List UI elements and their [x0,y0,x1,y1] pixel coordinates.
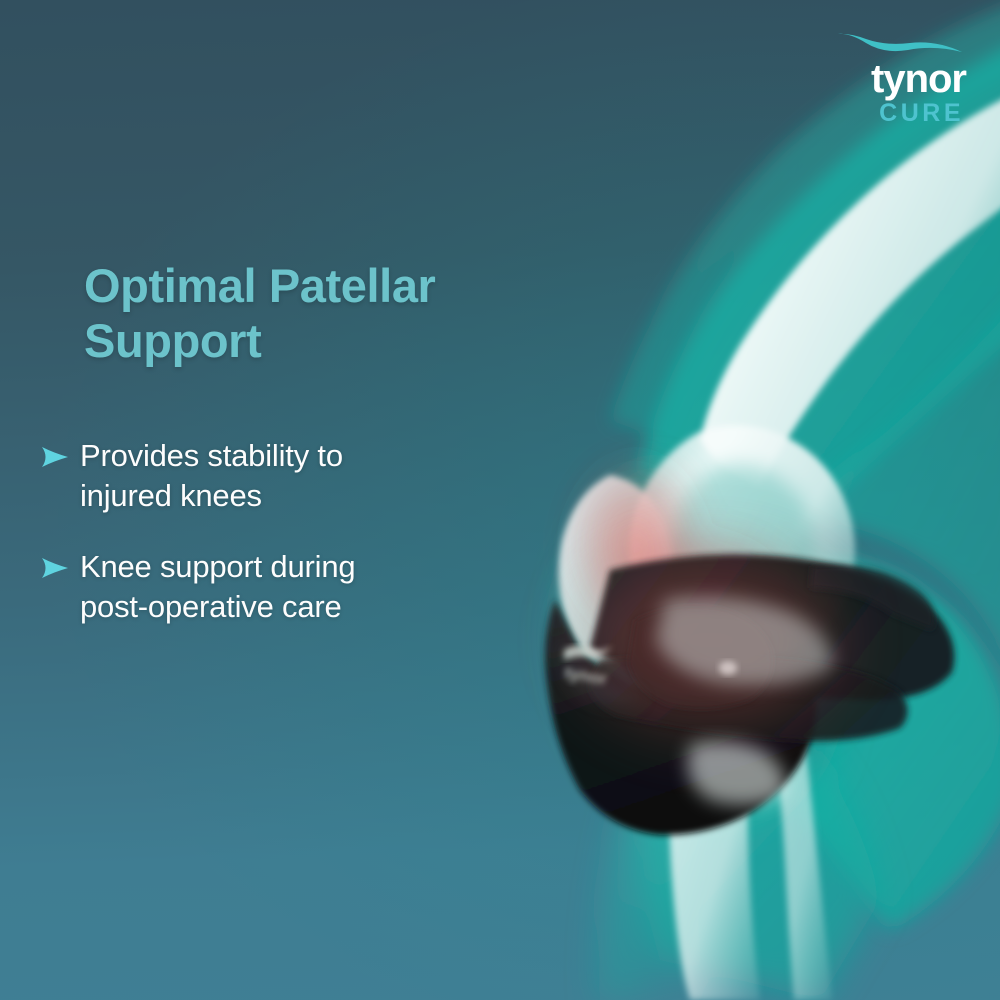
cure-wordmark: CURE [816,101,964,126]
feature-list: Provides stability to injured knees Knee… [38,436,518,627]
bullet-2-line-1: Knee support during [80,547,355,587]
headline-line-1: Optimal Patellar [84,258,554,313]
list-item: Provides stability to injured knees [38,436,518,515]
bullet-1-line-1: Provides stability to [80,436,343,476]
bullet-2-line-2: post-operative care [80,587,355,627]
tynor-cure-logo: tynor CURE [816,30,966,126]
page-title: Optimal Patellar Support [84,258,554,369]
list-item: Knee support during post-operative care [38,547,518,626]
arrow-bullet-icon [38,551,72,585]
list-item-label: Knee support during post-operative care [72,547,355,626]
knee-xray-image: tynor [460,0,1000,1000]
headline-line-2: Support [84,313,554,368]
tynor-wordmark: tynor [816,59,966,99]
promo-banner: tynor tynor CURE Optimal Patel [0,0,1000,1000]
tynor-wave-icon [836,30,966,60]
arrow-bullet-icon [38,440,72,474]
list-item-label: Provides stability to injured knees [72,436,343,515]
bullet-1-line-2: injured knees [80,476,343,516]
